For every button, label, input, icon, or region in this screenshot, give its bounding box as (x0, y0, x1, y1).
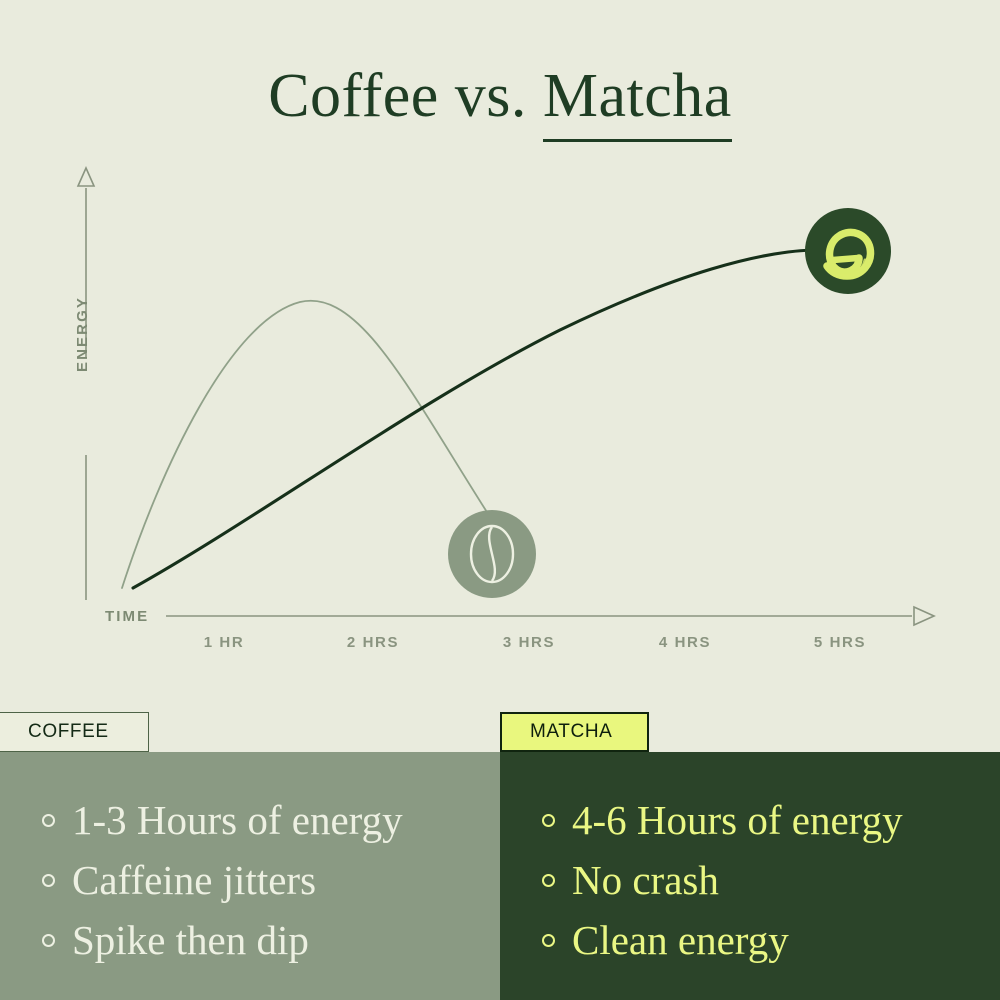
list-item: 1-3 Hours of energy (0, 796, 500, 856)
bullet-icon (42, 934, 55, 947)
x-tick-4hrs: 4 HRS (659, 634, 711, 651)
list-item: Spike then dip (0, 916, 500, 976)
x-tick-5hrs: 5 HRS (814, 634, 866, 651)
matcha-logo-badge (805, 208, 891, 294)
y-axis-arrow-icon (78, 168, 94, 186)
coffee-panel: 1-3 Hours of energy Caffeine jitters Spi… (0, 752, 500, 1000)
x-tick-1hr: 1 HR (204, 634, 245, 651)
list-item: Caffeine jitters (0, 856, 500, 916)
list-item: No crash (500, 856, 1000, 916)
x-tick-3hrs: 3 HRS (503, 634, 555, 651)
bullet-icon (542, 874, 555, 887)
matcha-bullet-3: Clean energy (572, 916, 789, 964)
matcha-logo-icon (805, 208, 891, 294)
list-item: Clean energy (500, 916, 1000, 976)
coffee-bean-badge (448, 510, 536, 598)
x-axis (166, 607, 934, 625)
matcha-bullet-1: 4-6 Hours of energy (572, 796, 903, 844)
matcha-panel: 4-6 Hours of energy No crash Clean energ… (500, 752, 1000, 1000)
y-axis-label: ENERGY (74, 296, 91, 372)
x-tick-2hrs: 2 HRS (347, 634, 399, 651)
y-axis (78, 168, 94, 600)
tab-matcha[interactable]: MATCHA (500, 712, 649, 752)
x-axis-label: TIME (105, 608, 149, 625)
coffee-bean-icon (448, 510, 536, 598)
infographic-root: Coffee vs. Matcha ENERGY TIME 1 HR (0, 0, 1000, 1000)
energy-curve-chart: ENERGY TIME 1 HR 2 HRS 3 HRS 4 HRS 5 HRS (0, 0, 1000, 712)
list-item: 4-6 Hours of energy (500, 796, 1000, 856)
matcha-bullet-2: No crash (572, 856, 719, 904)
coffee-bullet-1: 1-3 Hours of energy (72, 796, 403, 844)
x-axis-arrow-icon (914, 607, 934, 625)
bullet-icon (42, 874, 55, 887)
coffee-bullet-3: Spike then dip (72, 916, 309, 964)
bullet-icon (42, 814, 55, 827)
tab-matcha-label: MATCHA (530, 721, 612, 743)
tab-coffee[interactable]: COFFEE (0, 712, 149, 752)
tab-coffee-label: COFFEE (28, 721, 109, 743)
chart-canvas (0, 0, 1000, 712)
coffee-curve (122, 301, 492, 588)
bullet-icon (542, 934, 555, 947)
bullet-icon (542, 814, 555, 827)
coffee-bullet-2: Caffeine jitters (72, 856, 316, 904)
